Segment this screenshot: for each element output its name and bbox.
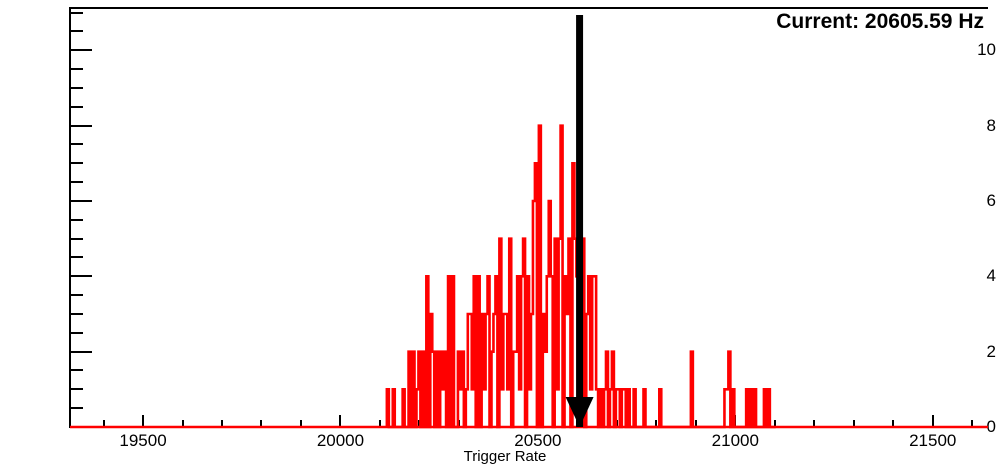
marker-arrow-head <box>566 397 594 427</box>
current-rate-marker-arrow <box>0 0 996 472</box>
x-axis-title: Trigger Rate <box>0 448 996 465</box>
current-rate-readout: Current: 20605.59 Hz <box>776 10 984 34</box>
histogram-canvas: 0246810 1950020000205002100021500 Trigge… <box>0 0 996 472</box>
